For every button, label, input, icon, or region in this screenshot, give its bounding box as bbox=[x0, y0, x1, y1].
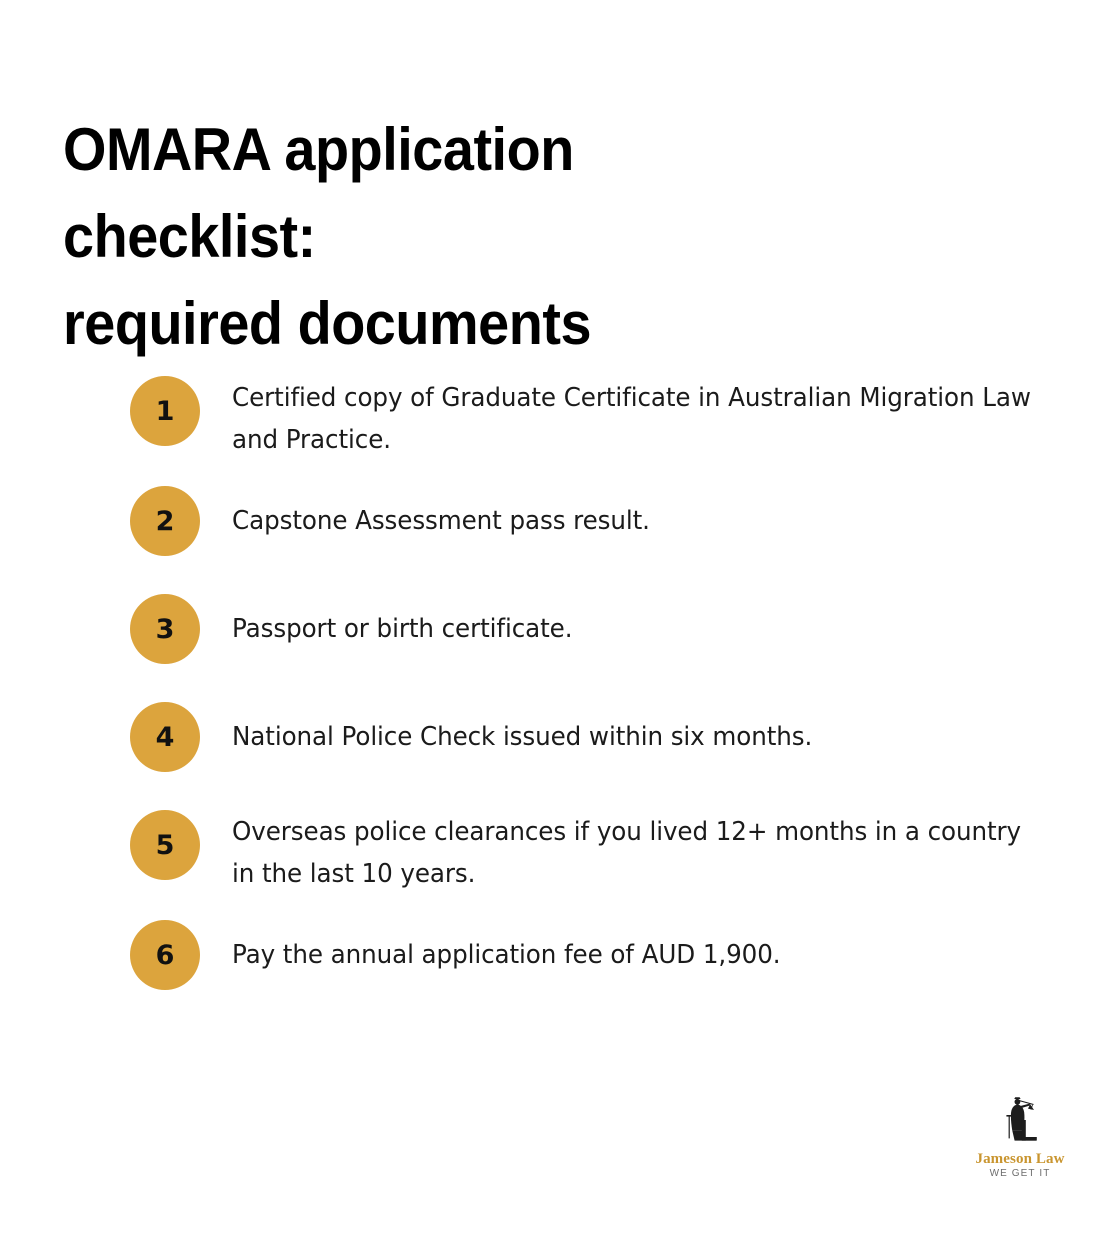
lady-justice-scales-icon bbox=[992, 1094, 1048, 1150]
item-number-badge: 4 bbox=[130, 702, 200, 772]
item-text: Capstone Assessment pass result. bbox=[232, 486, 1041, 542]
page-title: OMARA application checklist: required do… bbox=[63, 106, 714, 367]
item-number-badge: 2 bbox=[130, 486, 200, 556]
item-number-badge: 1 bbox=[130, 376, 200, 446]
item-text: Passport or birth certificate. bbox=[232, 594, 1041, 650]
item-number-badge: 6 bbox=[130, 920, 200, 990]
list-item: 6 Pay the annual application fee of AUD … bbox=[130, 920, 1070, 990]
list-item: 1 Certified copy of Graduate Certificate… bbox=[130, 376, 1070, 461]
list-item: 2 Capstone Assessment pass result. bbox=[130, 486, 1070, 556]
logo-tagline: WE GET IT bbox=[968, 1168, 1072, 1179]
checklist: 1 Certified copy of Graduate Certificate… bbox=[130, 376, 1070, 990]
title-block: OMARA application checklist: required do… bbox=[63, 106, 763, 367]
item-text: National Police Check issued within six … bbox=[232, 702, 1041, 758]
item-number-badge: 3 bbox=[130, 594, 200, 664]
list-item: 5 Overseas police clearances if you live… bbox=[130, 810, 1070, 895]
infographic-canvas: OMARA application checklist: required do… bbox=[0, 0, 1120, 1234]
logo-wordmark: Jameson Law bbox=[968, 1151, 1072, 1167]
list-item: 3 Passport or birth certificate. bbox=[130, 594, 1070, 664]
list-item: 4 National Police Check issued within si… bbox=[130, 702, 1070, 772]
item-number-badge: 5 bbox=[130, 810, 200, 880]
item-text: Overseas police clearances if you lived … bbox=[232, 810, 1041, 895]
item-text: Pay the annual application fee of AUD 1,… bbox=[232, 920, 1041, 976]
brand-logo: Jameson Law WE GET IT bbox=[968, 1094, 1072, 1186]
item-text: Certified copy of Graduate Certificate i… bbox=[232, 376, 1041, 461]
